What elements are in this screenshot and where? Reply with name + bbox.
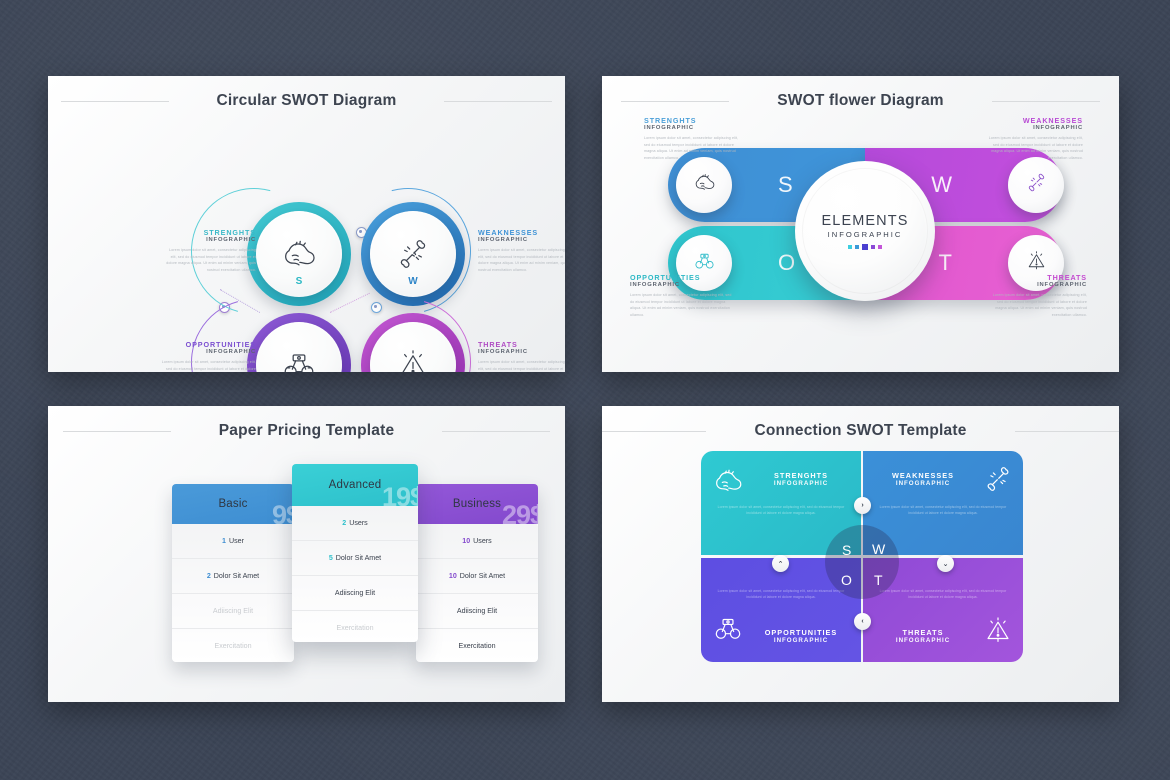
basic-row-4: Exercitation [172,629,294,662]
weaknesses-title: WEAKNESSES [871,471,975,480]
panel-paper-pricing[interactable]: Paper Pricing Template Basic 9$ 1User 2D… [48,406,565,702]
business-price: 29$ [502,500,538,531]
pricing-card-advanced[interactable]: Advanced 19$ 2Users 5Dolor Sit Amet Adii… [292,464,418,642]
square-1 [848,245,852,249]
center-title: ELEMENTS [822,213,909,229]
binoculars-icon [711,611,745,650]
panel-2-title: SWOT flower Diagram [777,92,944,110]
basic-price: 9$ [272,500,294,531]
basic-body: 1User 2Dolor Sit Amet Adiiscing Elit Exe… [172,524,294,662]
broken-bone-icon [393,234,433,274]
panel-circular-swot[interactable]: Circular SWOT Diagram S STRENGHTS [48,76,565,372]
sublabel-opportunities: INFOGRAPHIC [630,282,734,288]
lorem-threats: Lorem ipsum dolor sit amet, consectetur … [987,292,1087,319]
label-opportunities: OPPORTUNITIES [156,340,256,349]
opportunities-sub: INFOGRAPHIC [749,637,853,644]
bubble-weaknesses[interactable] [1008,157,1064,213]
advanced-name: Advanced [329,479,382,491]
center-square-row [848,244,882,250]
advanced-body: 2Users 5Dolor Sit Amet Adiiscing Elit Ex… [292,506,418,642]
weaknesses-heading: WEAKNESSES INFOGRAPHIC [871,471,975,487]
business-name: Business [453,498,501,510]
business-body: 10Users 10Dolor Sit Amet Adiiscing Elit … [416,524,538,662]
threats-heading: THREATS INFOGRAPHIC [871,628,975,644]
title-rule-right [442,431,550,432]
muscle-icon [711,464,745,503]
opportunities-lorem: Lorem ipsum dolor sit amet, consectetur … [715,588,847,601]
nav-button-down[interactable]: ⌄ [937,555,954,572]
text-opportunities: OPPORTUNITIES INFOGRAPHIC Lorem ipsum do… [156,340,256,372]
node-strengths-letter: S [256,276,342,287]
title-rule-left [61,101,169,102]
title-rule-left [602,431,706,432]
strengths-lorem: Lorem ipsum dolor sit amet, consectetur … [715,504,847,517]
strengths-sub: INFOGRAPHIC [749,480,853,487]
weaknesses-sub: INFOGRAPHIC [871,480,975,487]
business-header: Business 29$ [416,484,538,524]
threats-sub: INFOGRAPHIC [871,637,975,644]
advanced-row-2: 5Dolor Sit Amet [292,541,418,576]
panel-4-title: Connection SWOT Template [754,422,966,440]
muscle-icon [692,170,717,200]
advanced-row-4: Exercitation [292,611,418,642]
label-opportunities: OPPORTUNITIES [630,273,734,282]
text-weaknesses: WEAKNESSES INFOGRAPHIC Lorem ipsum dolor… [478,228,565,274]
warning-icon [393,345,433,372]
business-row-3: Adiiscing Elit [416,594,538,629]
basic-row-2: 2Dolor Sit Amet [172,559,294,594]
label-strengths: STRENGHTS [644,116,740,125]
lorem-opportunities: Lorem ipsum dolor sit amet, consectetur … [156,359,256,372]
title-rule-right [444,101,552,102]
lorem-weaknesses: Lorem ipsum dolor sit amet, consectetur … [478,247,565,274]
label-weaknesses: WEAKNESSES [478,228,565,237]
title-rule-right [1015,431,1119,432]
lorem-opportunities: Lorem ipsum dolor sit amet, consectetur … [630,292,734,319]
node-weaknesses-face: W [370,211,456,297]
strengths-title: STRENGHTS [749,471,853,480]
title-rule-left [63,431,171,432]
warning-icon [981,613,1015,652]
opportunities-title: OPPORTUNITIES [749,628,853,637]
sublabel-threats: INFOGRAPHIC [478,349,565,355]
business-row-4: Exercitation [416,629,538,662]
panel-4-header: Connection SWOT Template [602,406,1119,440]
panel-1-title: Circular SWOT Diagram [217,92,397,110]
title-rule-left [621,101,729,102]
threats-title: THREATS [871,628,975,637]
muscle-icon [279,234,319,274]
advanced-price: 19$ [382,482,418,513]
square-4 [871,245,875,249]
node-weaknesses[interactable]: W [361,202,465,306]
pricing-card-business[interactable]: Business 29$ 10Users 10Dolor Sit Amet Ad… [416,484,538,662]
binoculars-icon [279,345,319,372]
panel-swot-flower[interactable]: SWOT flower Diagram S W O T [602,76,1119,372]
node-opportunities[interactable]: O [247,313,351,372]
nav-button-right[interactable]: › [854,497,871,514]
label-threats: THREATS [987,273,1087,282]
label-strengths: STRENGHTS [164,228,256,237]
nav-button-left[interactable]: ‹ [854,613,871,630]
panel-2-header: SWOT flower Diagram [602,76,1119,110]
square-3 [862,244,868,250]
panel-1-header: Circular SWOT Diagram [48,76,565,110]
pill-weaknesses-letter: W [931,172,952,198]
weaknesses-lorem: Lorem ipsum dolor sit amet, consectetur … [877,504,1009,517]
pill-opportunities-letter: O [778,250,795,276]
title-rule-right [992,101,1100,102]
basic-header: Basic 9$ [172,484,294,524]
node-weaknesses-letter: W [370,276,456,287]
pill-threats-letter: T [939,250,952,276]
panel-3-title: Paper Pricing Template [219,422,395,440]
label-weaknesses: WEAKNESSES [987,116,1083,125]
advanced-row-3: Adiiscing Elit [292,576,418,611]
basic-row-3: Adiiscing Elit [172,594,294,629]
text-strengths: STRENGHTS INFOGRAPHIC Lorem ipsum dolor … [644,116,740,162]
panel-3-header: Paper Pricing Template [48,406,565,440]
nav-button-up[interactable]: ⌃ [772,555,789,572]
lorem-weaknesses: Lorem ipsum dolor sit amet, consectetur … [987,135,1083,162]
sublabel-strengths: INFOGRAPHIC [164,237,256,243]
sublabel-opportunities: INFOGRAPHIC [156,349,256,355]
text-strengths: STRENGHTS INFOGRAPHIC Lorem ipsum dolor … [164,228,256,274]
business-row-2: 10Dolor Sit Amet [416,559,538,594]
swot-letter-s: S [842,542,851,558]
broken-bone-icon [1024,170,1049,200]
text-weaknesses: WEAKNESSES INFOGRAPHIC Lorem ipsum dolor… [987,116,1083,162]
lorem-strengths: Lorem ipsum dolor sit amet, consectetur … [644,135,740,162]
label-threats: THREATS [478,340,565,349]
node-strengths[interactable]: S [247,202,351,306]
swot-center-circle [825,525,899,599]
pricing-card-basic[interactable]: Basic 9$ 1User 2Dolor Sit Amet Adiiscing… [172,484,294,662]
text-opportunities: OPPORTUNITIES INFOGRAPHIC Lorem ipsum do… [630,273,734,319]
text-threats: THREATS INFOGRAPHIC Lorem ipsum dolor si… [478,340,565,372]
lorem-threats: Lorem ipsum dolor sit amet, consectetur … [478,359,565,372]
square-5 [878,245,882,249]
panel-connection-swot[interactable]: Connection SWOT Template STRENGHTS INFOG… [602,406,1119,702]
node-strengths-face: S [256,211,342,297]
center-subtitle: INFOGRAPHIC [828,230,903,239]
swot-letter-o: O [841,572,852,588]
sublabel-threats: INFOGRAPHIC [987,282,1087,288]
sublabel-weaknesses: INFOGRAPHIC [478,237,565,243]
swot-letter-t: T [874,572,883,588]
slide-grid: Circular SWOT Diagram S STRENGHTS [0,0,1170,780]
sublabel-strengths: INFOGRAPHIC [644,125,740,131]
square-2 [855,245,859,249]
swot-letter-w: W [872,541,885,557]
advanced-header: Advanced 19$ [292,464,418,506]
pill-strengths-letter: S [778,172,793,198]
broken-bone-icon [981,462,1015,501]
threats-lorem: Lorem ipsum dolor sit amet, consectetur … [877,588,1009,601]
opportunities-heading: OPPORTUNITIES INFOGRAPHIC [749,628,853,644]
strengths-heading: STRENGHTS INFOGRAPHIC [749,471,853,487]
center-logo-disc[interactable]: ELEMENTS INFOGRAPHIC [795,161,935,301]
node-threats[interactable]: T [361,313,465,372]
bubble-strengths[interactable] [676,157,732,213]
basic-name: Basic [218,498,247,510]
sublabel-weaknesses: INFOGRAPHIC [987,125,1083,131]
lorem-strengths: Lorem ipsum dolor sit amet, consectetur … [164,247,256,274]
text-threats: THREATS INFOGRAPHIC Lorem ipsum dolor si… [987,273,1087,319]
